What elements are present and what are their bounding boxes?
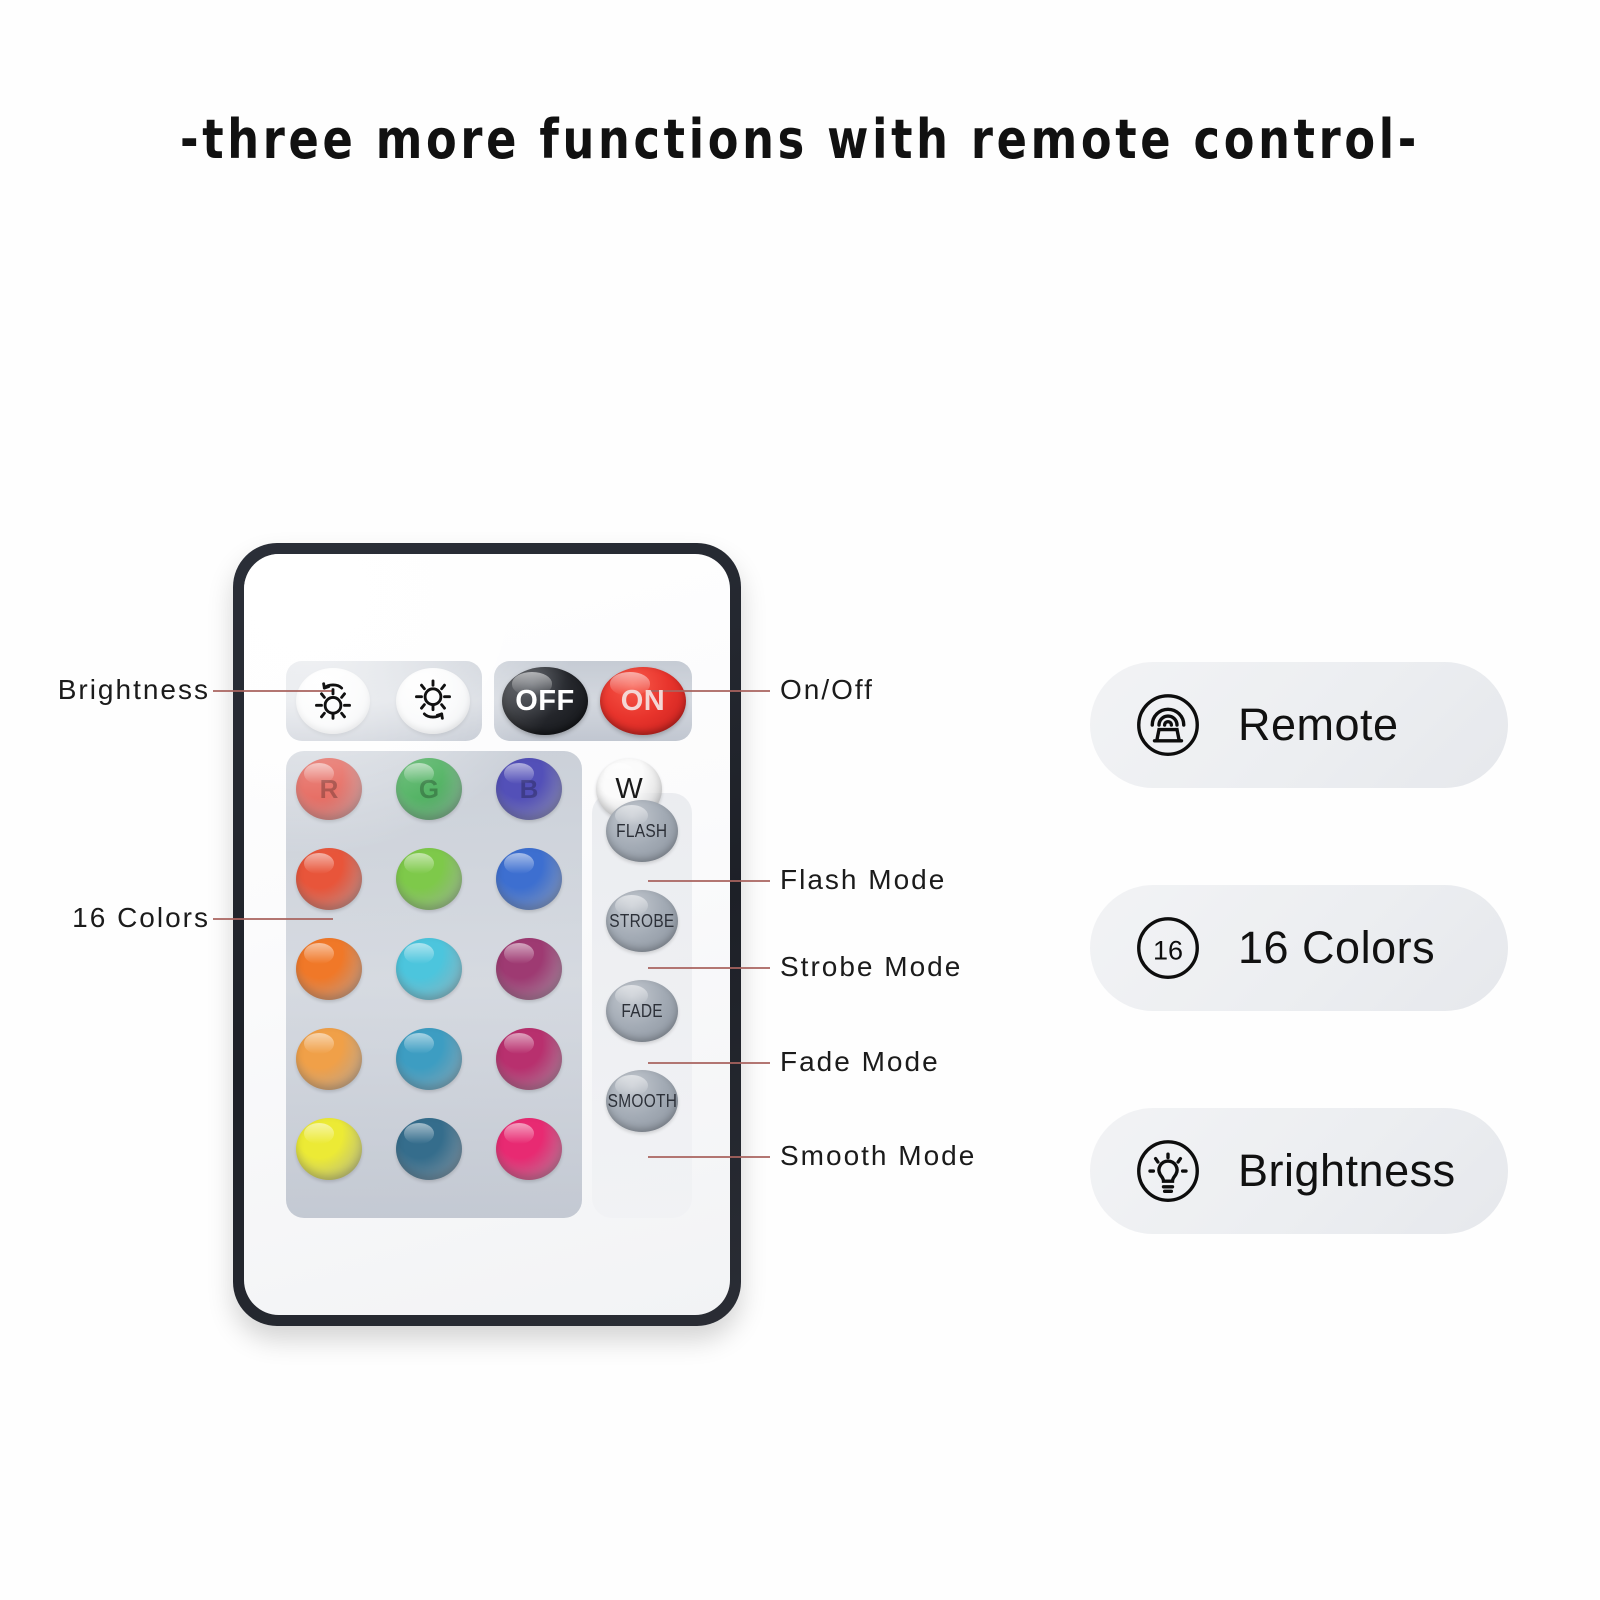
lead-line-fade: [648, 1062, 770, 1064]
color-button-7[interactable]: [496, 848, 562, 910]
color-button-label: W: [615, 773, 642, 806]
circled-16-icon: 16: [1132, 912, 1204, 984]
color-button-14[interactable]: [296, 1118, 362, 1180]
callout-on-off: On/Off: [780, 674, 874, 706]
feature-pill-remote[interactable]: Remote: [1090, 662, 1508, 788]
color-button-11[interactable]: [296, 1028, 362, 1090]
lead-line-strobe: [648, 967, 770, 969]
off-button[interactable]: OFF: [502, 667, 588, 735]
color-button-g[interactable]: G: [396, 758, 462, 820]
mode-button-label: FADE: [621, 1001, 662, 1022]
lead-line-16colors: [213, 918, 333, 920]
color-button-label: R: [320, 774, 339, 805]
lead-line-onoff: [648, 690, 770, 692]
mode-button-strobe[interactable]: STROBE: [606, 890, 678, 952]
mode-button-smooth[interactable]: SMOOTH: [606, 1070, 678, 1132]
sun-down-icon: [407, 678, 459, 724]
on-button[interactable]: ON: [600, 667, 686, 735]
mode-button-flash[interactable]: FLASH: [606, 800, 678, 862]
callout-fade-mode: Fade Mode: [780, 1046, 940, 1078]
color-button-8[interactable]: [296, 938, 362, 1000]
mode-button-fade[interactable]: FADE: [606, 980, 678, 1042]
feature-pill-brightness-label: Brightness: [1238, 1145, 1456, 1197]
on-button-label: ON: [621, 685, 666, 718]
svg-text:16: 16: [1153, 935, 1183, 965]
color-button-16[interactable]: [496, 1118, 562, 1180]
color-button-label: B: [520, 774, 539, 805]
callout-brightness: Brightness: [10, 674, 210, 706]
mode-button-label: STROBE: [609, 911, 674, 932]
sun-up-icon: [307, 678, 359, 724]
callout-strobe-mode: Strobe Mode: [780, 951, 962, 983]
color-button-10[interactable]: [496, 938, 562, 1000]
color-button-13[interactable]: [496, 1028, 562, 1090]
mode-button-label: SMOOTH: [607, 1091, 676, 1112]
lead-line-flash: [648, 880, 770, 882]
remote-signal-icon: [1132, 689, 1204, 761]
remote-face: OFF ON RGBW FLASHSTROBEFADESMOOTH: [244, 554, 730, 1315]
callout-smooth-mode: Smooth Mode: [780, 1140, 976, 1172]
lead-line-smooth: [648, 1156, 770, 1158]
light-bulb-icon: [1132, 1135, 1204, 1207]
color-button-9[interactable]: [396, 938, 462, 1000]
off-button-label: OFF: [515, 685, 575, 718]
remote-control: OFF ON RGBW FLASHSTROBEFADESMOOTH: [233, 543, 741, 1326]
brightness-down-button[interactable]: [396, 668, 470, 734]
page-title: -three more functions with remote contro…: [64, 108, 1536, 171]
feature-pill-remote-label: Remote: [1238, 699, 1399, 751]
brightness-up-button[interactable]: [296, 668, 370, 734]
color-button-r[interactable]: R: [296, 758, 362, 820]
color-button-b[interactable]: B: [496, 758, 562, 820]
color-button-15[interactable]: [396, 1118, 462, 1180]
feature-pill-16-colors-label: 16 Colors: [1238, 922, 1435, 974]
promo-image-canvas: -three more functions with remote contro…: [0, 0, 1600, 1600]
color-button-12[interactable]: [396, 1028, 462, 1090]
callout-flash-mode: Flash Mode: [780, 864, 946, 896]
color-button-5[interactable]: [296, 848, 362, 910]
feature-pill-brightness[interactable]: Brightness: [1090, 1108, 1508, 1234]
mode-button-label: FLASH: [616, 821, 667, 842]
callout-16-colors: 16 Colors: [10, 902, 210, 934]
color-button-6[interactable]: [396, 848, 462, 910]
color-button-label: G: [419, 774, 439, 805]
feature-pill-16-colors[interactable]: 16 16 Colors: [1090, 885, 1508, 1011]
